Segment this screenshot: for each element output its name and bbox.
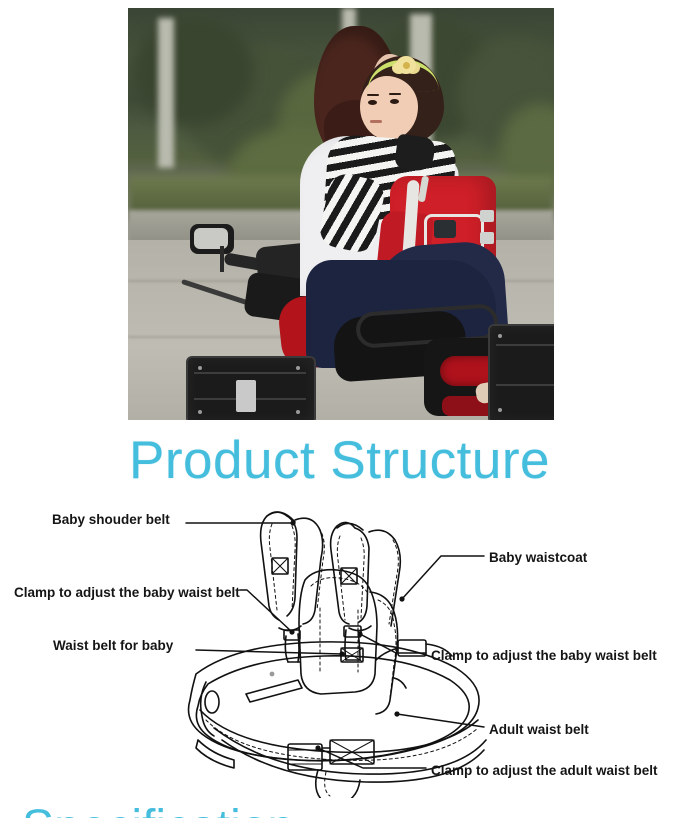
side-case-right: [488, 324, 554, 420]
next-section-title: Specification: [0, 800, 679, 818]
background-pillar: [158, 18, 174, 168]
page-title: Product Structure: [0, 430, 679, 492]
label-baby-waistcoat: Baby waistcoat: [489, 550, 587, 565]
product-photo: [128, 8, 554, 420]
flower-center: [403, 62, 410, 69]
motorcycle-mirror: [190, 224, 234, 254]
label-clamp-adult-waist-belt: Clamp to adjust the adult waist belt: [431, 763, 658, 778]
label-clamp-baby-waist-left: Clamp to adjust the baby waist belt: [14, 585, 240, 600]
child-eye: [390, 99, 399, 104]
label-adult-waist-belt: Adult waist belt: [489, 722, 589, 737]
harness-reflective-tab: [480, 232, 494, 244]
label-waist-belt-for-baby: Waist belt for baby: [53, 638, 173, 653]
child-eye: [368, 100, 377, 105]
photo-scene: [128, 8, 554, 420]
label-clamp-baby-waist-right: Clamp to adjust the baby waist belt: [431, 648, 657, 663]
case-latch: [236, 380, 256, 412]
side-case-left: [186, 356, 316, 420]
label-baby-shoulder-belt: Baby shouder belt: [52, 512, 170, 527]
child-mouth: [370, 120, 382, 123]
harness-reflective-tab: [480, 210, 494, 222]
tree-foliage-icon: [134, 16, 254, 126]
harness-logo: [434, 220, 456, 238]
